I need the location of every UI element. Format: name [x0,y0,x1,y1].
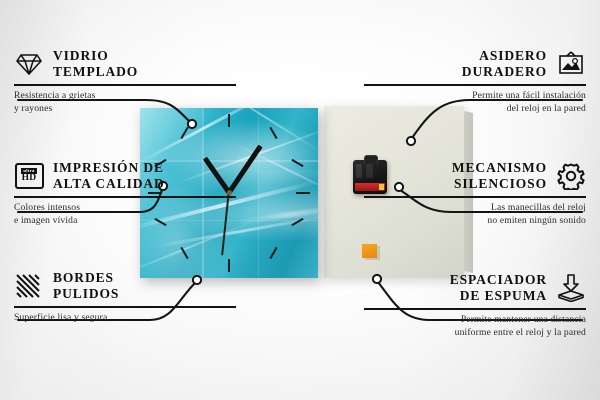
diagonal-lines-icon [14,271,44,301]
arrow-down-layers-icon [556,273,586,303]
feature-title-line1: IMPRESIÓN DE [53,160,165,176]
feature-desc-line2: uniforme entre el reloj y la pared [364,327,586,340]
feature-title-line2: DE ESPUMA [450,288,547,304]
feature-desc-line2: y rayones [14,103,236,116]
feature-title-line1: BORDES [53,270,119,286]
feature-divider [364,308,586,310]
feature-divider [364,196,586,198]
feature-title-line2: DURADERO [462,64,547,80]
feature-vidrio-templado: VIDRIO TEMPLADO Resistencia a grietas y … [14,48,236,115]
feature-desc-line2: no emiten ningún sonido [364,215,586,228]
feature-desc-line1: Superficie lisa y segura [14,312,236,325]
feature-asidero-duradero: ASIDERO DURADERO Permite una fácil insta… [364,48,586,115]
feature-title-line1: ESPACIADOR [450,272,547,288]
clock-tick [296,192,310,194]
feature-title-line1: MECANISMO [452,160,547,176]
feature-desc-line2: e imagen vívida [14,215,236,228]
feature-title-line2: PULIDOS [53,286,119,302]
feature-title-line2: TEMPLADO [53,64,138,80]
feature-desc-line1: Permite una fácil instalación [364,90,586,103]
feature-impresion-alta-calidad: ultra HD IMPRESIÓN DE ALTA CALIDAD Color… [14,160,236,227]
clock-tick [228,114,230,127]
feature-espaciador-de-espuma: ESPACIADOR DE ESPUMA Permite mantener un… [364,272,586,339]
feature-divider [364,84,586,86]
feature-title-line2: ALTA CALIDAD [53,176,165,192]
hd-badge-main-text: HD [22,174,37,184]
foam-spacer [362,244,377,258]
feature-mecanismo-silencioso: MECANISMO SILENCIOSO Las manecillas del … [364,160,586,227]
hanging-picture-frame-icon [556,49,586,79]
feature-desc-line1: Permite mantener una distancia [364,314,586,327]
feature-divider [14,306,236,308]
feature-title-line2: SILENCIOSO [452,176,547,192]
feature-desc-line1: Las manecillas del reloj [364,202,586,215]
feature-title-line1: VIDRIO [53,48,138,64]
feature-divider [14,84,236,86]
gear-icon [556,161,586,191]
feature-divider [14,196,236,198]
diamond-icon [14,49,44,79]
feature-bordes-pulidos: BORDES PULIDOS Superficie lisa y segura [14,270,236,325]
feature-desc-line2: del reloj en la pared [364,103,586,116]
feature-desc-line1: Colores intensos [14,202,236,215]
infographic-canvas: VIDRIO TEMPLADO Resistencia a grietas y … [0,0,600,400]
feature-title-line1: ASIDERO [462,48,547,64]
ultra-hd-badge-icon: ultra HD [14,161,44,191]
feature-desc-line1: Resistencia a grietas [14,90,236,103]
